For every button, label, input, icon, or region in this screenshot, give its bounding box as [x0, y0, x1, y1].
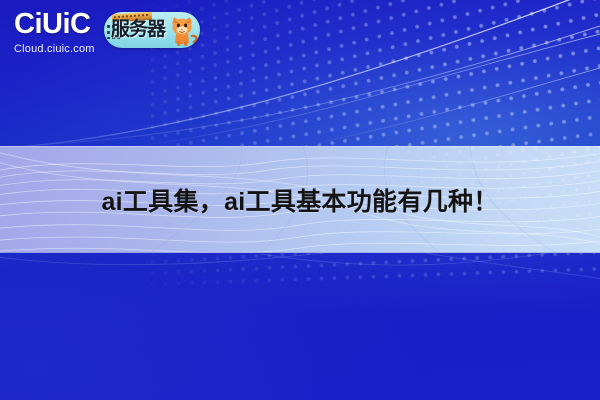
site-logo[interactable]: CiUiC Cloud.ciuic.com: [14, 10, 95, 55]
page-title: ai工具集，ai工具基本功能有几种！: [0, 146, 600, 253]
logo-wordmark: CiUiC: [14, 10, 95, 39]
cartoon-cat-mascot-icon: [165, 14, 199, 48]
server-badge[interactable]: 服务器: [104, 12, 200, 48]
bottom-swoosh-arcs: [0, 250, 600, 400]
page-title-text: ai工具集，ai工具基本功能有几种！: [101, 182, 498, 218]
logo-domain: Cloud.ciuic.com: [14, 44, 95, 55]
banner-image: ai工具集，ai工具基本功能有几种！ CiUiC Cloud.ciuic.com…: [0, 0, 600, 400]
server-badge-label: 服务器: [111, 20, 165, 39]
